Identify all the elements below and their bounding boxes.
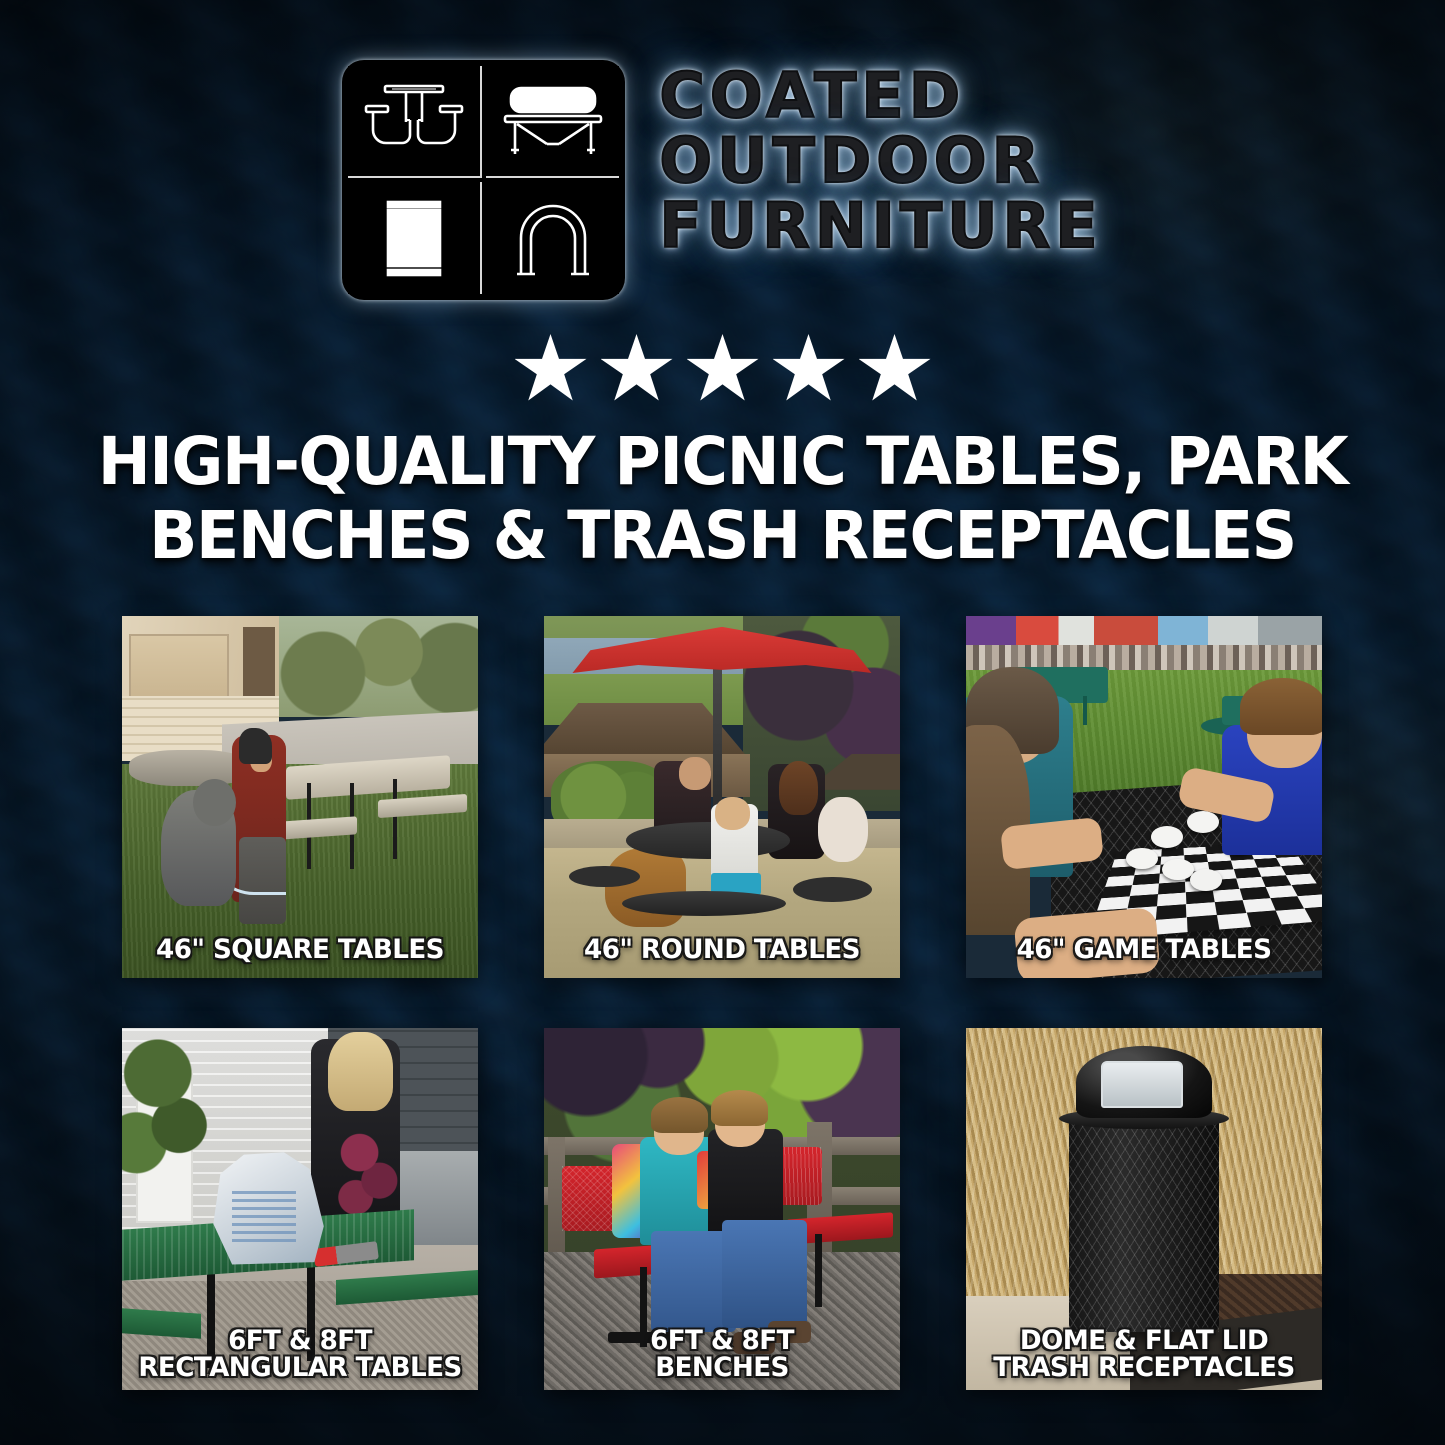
- product-tile-trash-receptacles[interactable]: DOME & FLAT LID TRASH RECEPTACLES: [966, 1028, 1322, 1390]
- logo-wordmark: COATED OUTDOOR FURNITURE: [659, 60, 1102, 258]
- product-tile-label: 6FT & 8FT BENCHES: [549, 1327, 894, 1382]
- product-tile-square-tables[interactable]: 46" SQUARE TABLES: [122, 616, 478, 978]
- product-tile-label: DOME & FLAT LID TRASH RECEPTACLES: [971, 1327, 1316, 1382]
- promo-banner: COATED OUTDOOR FURNITURE HIGH-QUALITY PI…: [0, 0, 1445, 1445]
- product-grid: 46" SQUARE TABLES: [122, 616, 1323, 1390]
- product-tile-benches[interactable]: 6FT & 8FT BENCHES: [544, 1028, 900, 1390]
- product-label-line-1: 46" GAME TABLES: [971, 936, 1316, 964]
- product-tile-label: 6FT & 8FT RECTANGULAR TABLES: [127, 1327, 472, 1382]
- logo-line-2: OUTDOOR: [659, 129, 1102, 192]
- product-label-line-1: 6FT & 8FT: [127, 1327, 472, 1355]
- logo-mark: [342, 60, 625, 300]
- headline: HIGH-QUALITY PICNIC TABLES, PARK BENCHES…: [0, 425, 1445, 573]
- product-photo-square-tables: [122, 616, 478, 978]
- headline-line-2: BENCHES & TRASH RECEPTACLES: [87, 499, 1359, 573]
- product-label-line-1: 46" SQUARE TABLES: [127, 936, 472, 964]
- star-icon: [859, 334, 931, 404]
- product-tile-label: 46" ROUND TABLES: [549, 936, 894, 964]
- logo-line-3: FURNITURE: [659, 194, 1102, 257]
- product-tile-round-tables[interactable]: 46" ROUND TABLES: [544, 616, 900, 978]
- star-icon: [601, 334, 673, 404]
- product-photo-game-tables: [966, 616, 1322, 978]
- product-label-line-1: 46" ROUND TABLES: [549, 936, 894, 964]
- star-rating: [0, 334, 1445, 404]
- picnic-table-icon: [348, 66, 482, 178]
- product-label-line-1: DOME & FLAT LID: [971, 1327, 1316, 1355]
- park-bench-icon: [486, 66, 620, 178]
- star-icon: [773, 334, 845, 404]
- star-icon: [515, 334, 587, 404]
- bike-rack-arch-icon: [486, 182, 620, 294]
- star-icon: [687, 334, 759, 404]
- product-label-line-2: BENCHES: [549, 1354, 894, 1382]
- product-tile-rectangular-tables[interactable]: 6FT & 8FT RECTANGULAR TABLES: [122, 1028, 478, 1390]
- product-tile-game-tables[interactable]: 46" GAME TABLES: [966, 616, 1322, 978]
- product-label-line-2: TRASH RECEPTACLES: [971, 1354, 1316, 1382]
- logo-line-1: COATED: [659, 64, 1102, 127]
- product-photo-round-tables: [544, 616, 900, 978]
- trash-receptacle-icon: [348, 182, 482, 294]
- product-label-line-1: 6FT & 8FT: [549, 1327, 894, 1355]
- product-tile-label: 46" SQUARE TABLES: [127, 936, 472, 964]
- headline-line-1: HIGH-QUALITY PICNIC TABLES, PARK: [87, 425, 1359, 499]
- product-tile-label: 46" GAME TABLES: [971, 936, 1316, 964]
- brand-logo: COATED OUTDOOR FURNITURE: [0, 60, 1445, 300]
- product-label-line-2: RECTANGULAR TABLES: [127, 1354, 472, 1382]
